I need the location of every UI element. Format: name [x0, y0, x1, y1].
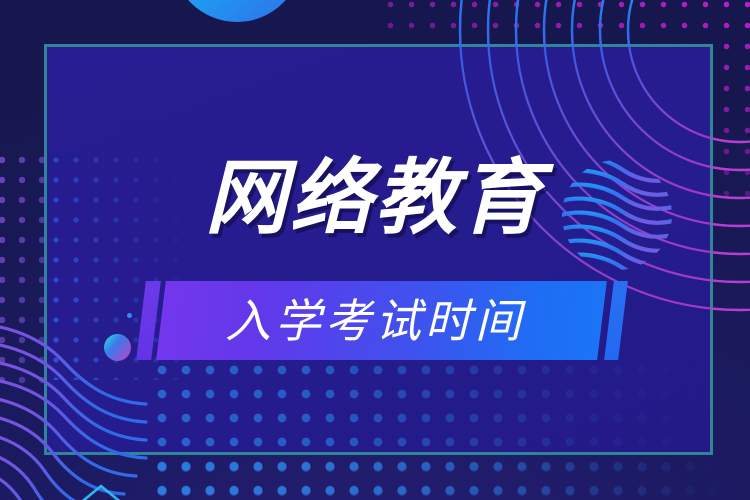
top-circle-decoration — [172, 0, 302, 22]
poster-canvas: 网络教育 入学考试时间 — [0, 0, 750, 500]
chevron-up-icon — [72, 484, 130, 500]
page-title: 网络教育 — [0, 158, 750, 240]
page-subtitle: 入学考试时间 — [0, 287, 750, 355]
